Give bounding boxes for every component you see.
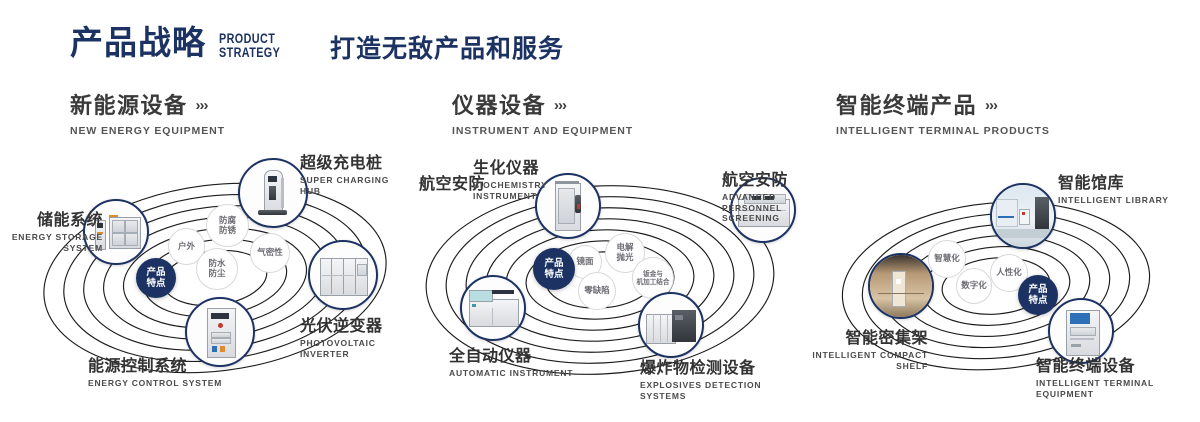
page-subtitle: 打造无敌产品和服务 — [330, 36, 564, 61]
label-en: ADVANCED PERSONNEL SCREENING — [722, 192, 800, 224]
label-cn: 航空安防 — [722, 172, 800, 188]
energy-control-photo — [187, 299, 253, 365]
label-cn: 智能馆库 — [1058, 175, 1169, 191]
label-en: ENERGY CONTROL SYSTEM — [88, 378, 222, 389]
section-title-en: INTELLIGENT TERMINAL PRODUCTS — [836, 125, 1050, 137]
label-intelligent-library: 智能馆库 INTELLIGENT LIBRARY — [1058, 175, 1169, 206]
cluster-instrument: 镜面 电解 抛光 零缺陷 钣金与 机加工结合 产品 特点 — [400, 150, 800, 400]
label-cn: 能源控制系统 — [88, 358, 222, 374]
label-cn: 航空安防 — [365, 176, 485, 192]
label-en: EXPLOSIVES DETECTION SYSTEMS — [640, 380, 800, 401]
label-en: AUTOMATIC INSTRUMENT — [449, 368, 573, 379]
label-energy-storage-system: 储能系统 ENERGY STORAGE SYSTEM — [0, 212, 103, 253]
label-cn: 储能系统 — [0, 212, 103, 228]
node-intelligent-compact-shelf[interactable] — [868, 253, 934, 319]
explosives-detection-photo — [640, 294, 702, 356]
label-personnel-screening: 航空安防 ADVANCED PERSONNEL SCREENING — [722, 172, 800, 224]
section-heading-instrument: 仪器设备››› INSTRUMENT AND EQUIPMENT — [452, 96, 633, 137]
section-title-cn: 新能源设备 — [70, 96, 188, 118]
node-photovoltaic-inverter[interactable] — [308, 240, 378, 310]
label-explosives-detection: 爆炸物检测设备 EXPLOSIVES DETECTION SYSTEMS — [640, 360, 800, 401]
core-bubble: 产品 特点 — [533, 248, 575, 290]
label-cn: 全自动仪器 — [449, 348, 573, 364]
label-en: ENERGY STORAGE SYSTEM — [0, 232, 103, 253]
section-title-cn: 智能终端产品 — [836, 96, 977, 118]
label-cn: 生化仪器 — [473, 160, 547, 176]
feature-bubble: 零缺陷 — [578, 272, 616, 310]
label-energy-control-system: 能源控制系统 ENERGY CONTROL SYSTEM — [88, 358, 222, 389]
chevron-right-icon: ››› — [554, 97, 566, 114]
label-aviation-security: 航空安防 — [365, 176, 485, 196]
page-title-en: PRODUCT STRATEGY — [219, 32, 280, 60]
terminal-equipment-photo — [1050, 300, 1112, 362]
pv-inverter-photo — [310, 242, 376, 308]
label-automatic-instrument: 全自动仪器 AUTOMATIC INSTRUMENT — [449, 348, 573, 379]
page-header: 产品战略 PRODUCT STRATEGY 打造无敌产品和服务 — [0, 0, 1200, 88]
feature-bubble: 防水 防尘 — [196, 248, 238, 290]
library-photo — [992, 185, 1054, 247]
section-title-cn: 仪器设备 — [452, 96, 546, 118]
cluster-new-energy: 户外 防腐 防锈 防水 防尘 气密性 产品 特点 — [10, 150, 410, 400]
node-explosives-detection[interactable] — [638, 292, 704, 358]
label-en: INTELLIGENT TERMINAL EQUIPMENT — [1036, 378, 1200, 399]
product-strategy-infographic: 产品战略 PRODUCT STRATEGY 打造无敌产品和服务 新能源设备›››… — [0, 0, 1200, 422]
feature-bubble: 气密性 — [250, 233, 290, 273]
section-heading-new-energy: 新能源设备››› NEW ENERGY EQUIPMENT — [70, 96, 225, 137]
chevron-right-icon: ››› — [196, 97, 208, 114]
section-heading-intelligent-terminal: 智能终端产品››› INTELLIGENT TERMINAL PRODUCTS — [836, 96, 1050, 137]
label-biochemistry-instrument: 生化仪器 BIOCHEMISTRY INSTRUMENT — [473, 160, 547, 201]
page-title: 产品战略 — [70, 26, 206, 59]
section-title-en: INSTRUMENT AND EQUIPMENT — [452, 125, 633, 137]
label-en: INTELLIGENT COMPACT SHELF — [808, 350, 928, 371]
node-intelligent-terminal-equipment[interactable] — [1048, 298, 1114, 364]
core-bubble: 产品 特点 — [136, 258, 176, 298]
label-cn: 爆炸物检测设备 — [640, 360, 800, 376]
cluster-intelligent-terminal: 智慧化 数字化 人性化 产品 特点 — [800, 150, 1200, 400]
node-energy-control-system[interactable] — [185, 297, 255, 367]
automatic-instrument-photo — [462, 277, 524, 339]
label-intelligent-compact-shelf: 智能密集架 INTELLIGENT COMPACT SHELF — [808, 330, 928, 371]
charging-hub-photo — [240, 160, 306, 226]
label-cn: 智能密集架 — [808, 330, 928, 346]
label-intelligent-terminal-equipment: 智能终端设备 INTELLIGENT TERMINAL EQUIPMENT — [1036, 358, 1200, 399]
label-cn: 智能终端设备 — [1036, 358, 1200, 374]
chevron-right-icon: ››› — [985, 97, 997, 114]
label-en: BIOCHEMISTRY INSTRUMENT — [473, 180, 547, 201]
label-en: PHOTOVOLTAIC INVERTER — [300, 338, 410, 359]
feature-bubble: 数字化 — [956, 268, 992, 304]
node-intelligent-library[interactable] — [990, 183, 1056, 249]
node-super-charging-hub[interactable] — [238, 158, 308, 228]
label-photovoltaic-inverter: 光伏逆变器 PHOTOVOLTAIC INVERTER — [300, 318, 410, 359]
label-en: INTELLIGENT LIBRARY — [1058, 195, 1169, 206]
label-cn: 超级充电桩 — [300, 155, 410, 171]
label-cn: 光伏逆变器 — [300, 318, 410, 334]
node-automatic-instrument[interactable] — [460, 275, 526, 341]
compact-shelf-photo — [870, 255, 932, 317]
section-title-en: NEW ENERGY EQUIPMENT — [70, 125, 225, 137]
